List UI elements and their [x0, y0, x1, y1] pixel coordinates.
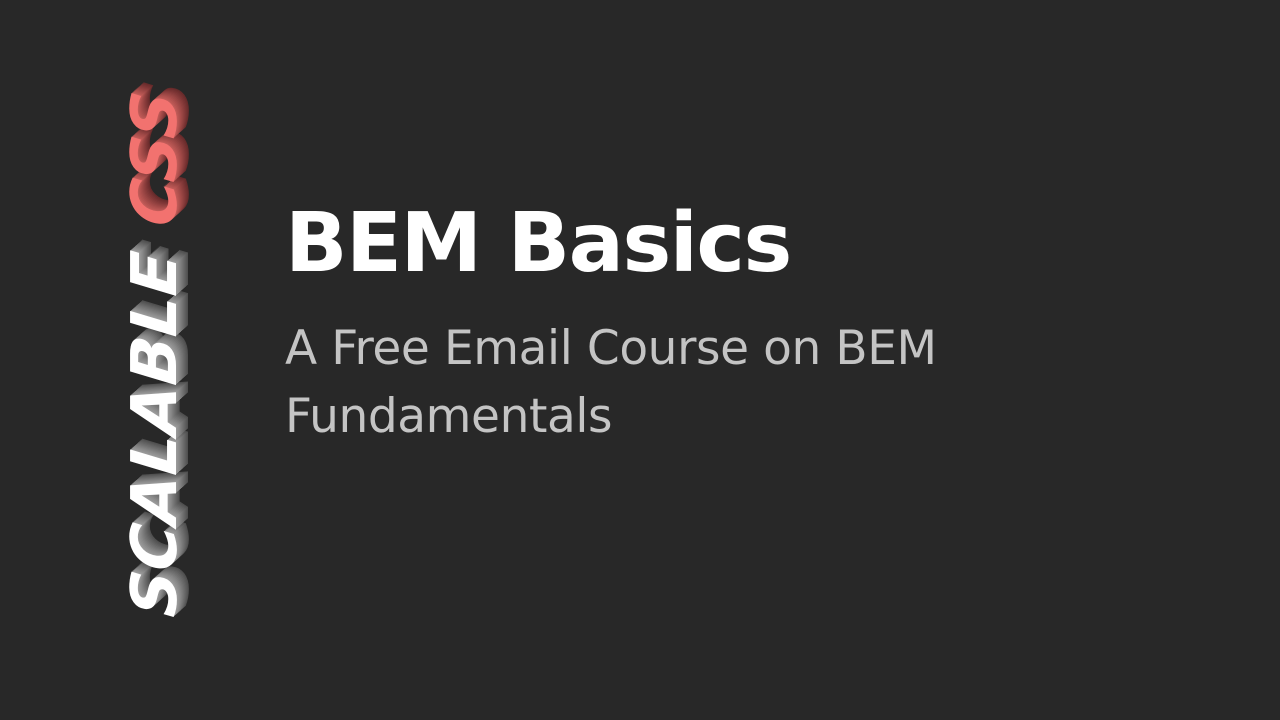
page-title: BEM Basics — [285, 196, 1045, 293]
brand-word-scalable: SCALABLE — [125, 249, 185, 620]
page-subtitle: A Free Email Course on BEM Fundamentals — [285, 293, 1025, 451]
brand-logo-text: SCALABLECSS — [125, 89, 185, 620]
slide-content: BEM Basics A Free Email Course on BEM Fu… — [285, 196, 1045, 451]
brand-logo: SCALABLECSS — [0, 0, 310, 720]
brand-logo-rotated-wrap: SCALABLECSS — [125, 0, 185, 714]
brand-word-css: CSS — [125, 89, 185, 229]
slide-canvas: SCALABLECSS BEM Basics A Free Email Cour… — [0, 0, 1280, 720]
